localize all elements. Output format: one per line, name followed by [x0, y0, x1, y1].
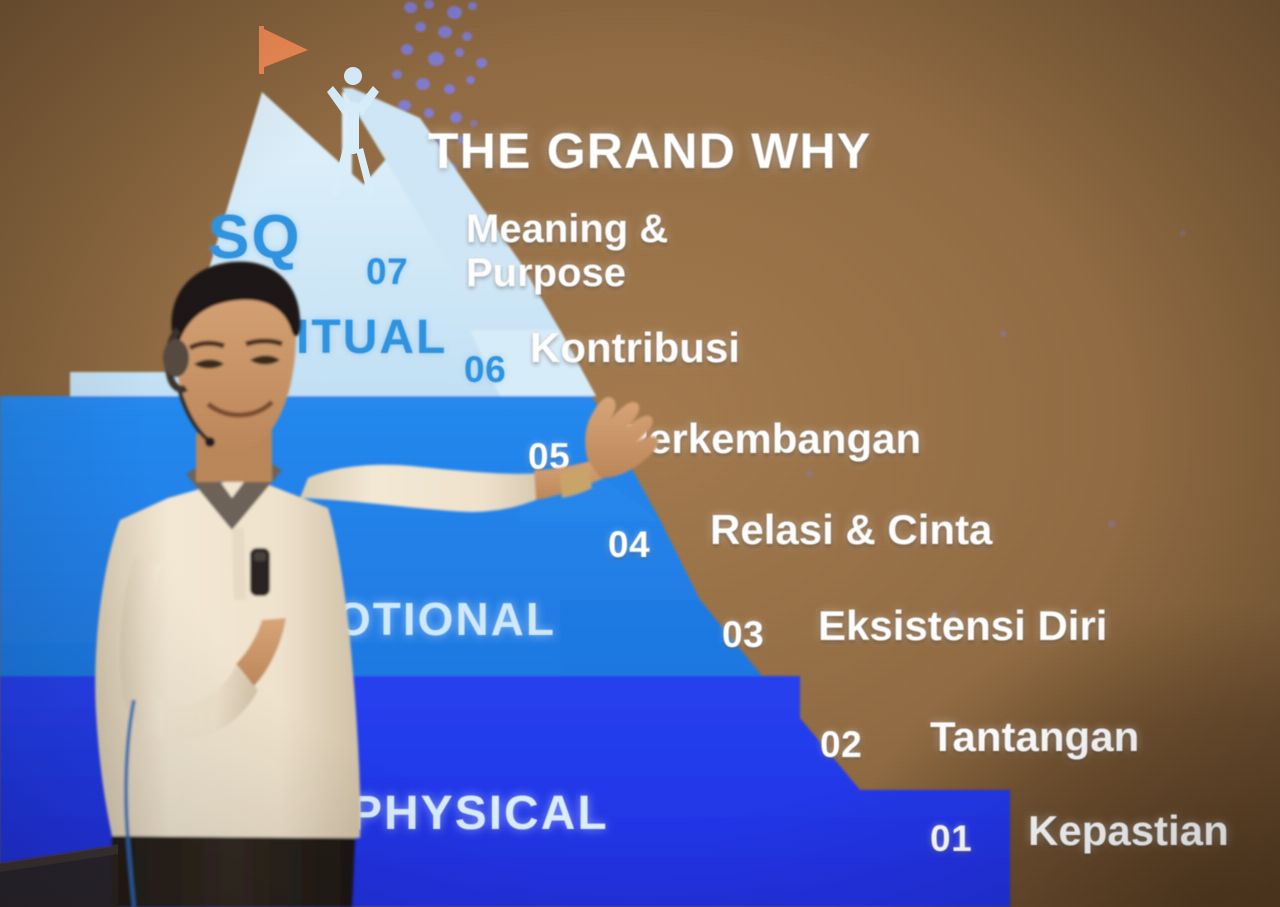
- stage-edge: [0, 0, 1280, 907]
- presentation-photo: SQ SPIRITUAL EMOTIONAL PHYSICAL THE GRAN…: [0, 0, 1280, 907]
